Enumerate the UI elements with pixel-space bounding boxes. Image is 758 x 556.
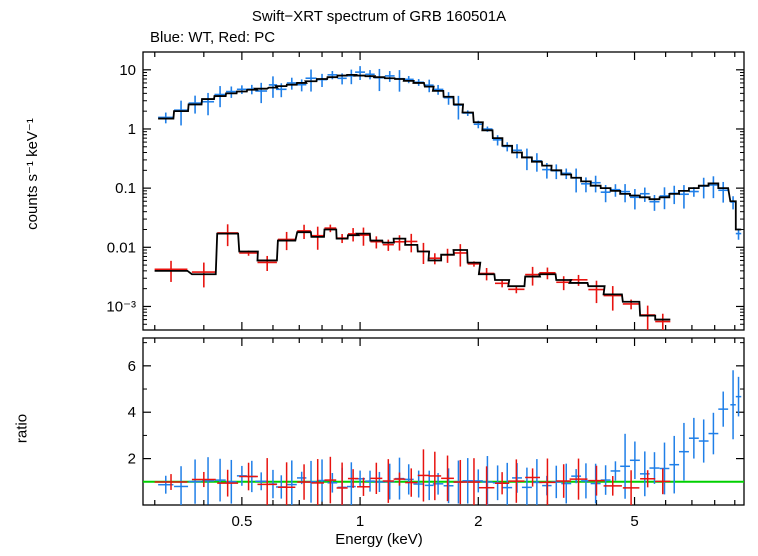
x-tick-label-1: 1	[356, 513, 364, 530]
y-tick-label-bottom: 4	[128, 404, 136, 421]
x-tick-label-5: 5	[630, 513, 638, 530]
x-tick-label-2: 2	[474, 513, 482, 530]
y-tick-label-bottom: 2	[128, 451, 136, 468]
model-step-line	[155, 229, 671, 319]
chart-canvas: 0.51251010.10.0110⁻³246	[0, 0, 758, 556]
y-tick-label-top: 1	[128, 121, 136, 138]
chart-root: Swift−XRT spectrum of GRB 160501A Blue: …	[0, 0, 758, 556]
y-tick-label-bottom: 6	[128, 358, 136, 375]
y-tick-label-top: 0.01	[107, 239, 136, 256]
y-tick-label-top: 10⁻³	[106, 298, 136, 315]
y-tick-label-top: 0.1	[115, 180, 136, 197]
x-tick-label-0.5: 0.5	[231, 513, 252, 530]
y-tick-label-top: 10	[119, 62, 136, 79]
